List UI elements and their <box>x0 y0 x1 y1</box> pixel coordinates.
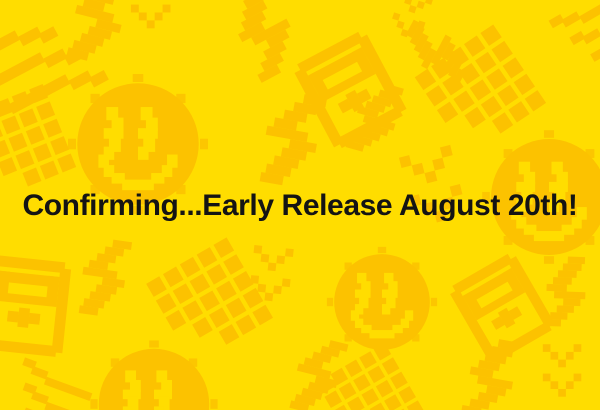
headline-row: Confirming...Early Release August 20th! <box>0 186 600 226</box>
promo-banner: Confirming...Early Release August 20th! <box>0 0 600 410</box>
page-title: Confirming...Early Release August 20th! <box>22 189 577 223</box>
